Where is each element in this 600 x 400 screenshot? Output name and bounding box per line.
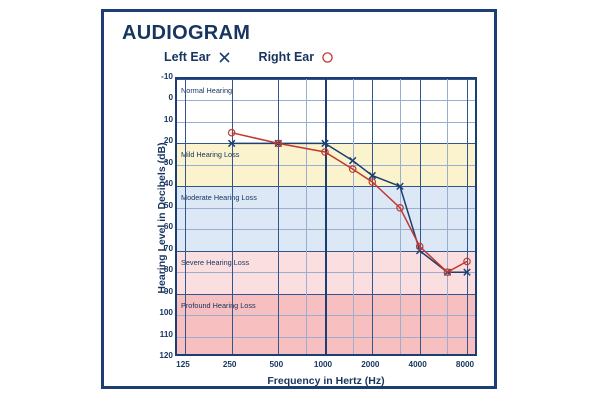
x-tick-label: 2000 xyxy=(361,360,379,369)
data-point-x-mark-icon xyxy=(369,172,375,178)
series-line-left-ear xyxy=(232,143,467,272)
x-tick-label: 4000 xyxy=(409,360,427,369)
x-tick-label: 125 xyxy=(176,360,190,369)
x-tick-label: 8000 xyxy=(456,360,474,369)
y-tick-label: 0 xyxy=(145,94,173,102)
legend-label-right-ear: Right Ear xyxy=(259,50,315,64)
data-series-layer xyxy=(177,79,477,356)
x-tick-label: 500 xyxy=(269,360,283,369)
audiogram-page: AUDIOGRAM Left Ear Right Ear xyxy=(0,0,600,400)
y-tick-label: 100 xyxy=(145,309,173,317)
y-axis-ticks: -100102030405060708090100110120 xyxy=(137,77,173,356)
y-tick-label: 110 xyxy=(145,331,173,339)
y-tick-label: 30 xyxy=(145,159,173,167)
audiogram-card: AUDIOGRAM Left Ear Right Ear xyxy=(101,9,497,389)
series-line-right-ear xyxy=(232,133,467,273)
y-tick-label: 80 xyxy=(145,266,173,274)
y-tick-label: 40 xyxy=(145,180,173,188)
data-point-x-mark-icon xyxy=(350,157,356,163)
legend-label-left-ear: Left Ear xyxy=(164,50,211,64)
page-title: AUDIOGRAM xyxy=(122,22,250,45)
y-tick-label: 10 xyxy=(145,116,173,124)
chart-legend: Left Ear Right Ear xyxy=(164,50,334,64)
y-tick-label: 60 xyxy=(145,223,173,231)
x-mark-icon xyxy=(218,51,231,64)
y-tick-label: 90 xyxy=(145,288,173,296)
x-tick-label: 1000 xyxy=(314,360,332,369)
legend-item-left-ear: Left Ear xyxy=(164,50,231,64)
x-axis-title: Frequency in Hertz (Hz) xyxy=(175,375,477,387)
x-axis-ticks: 1252505001000200040008000 xyxy=(175,360,477,374)
x-tick-label: 250 xyxy=(223,360,237,369)
y-tick-label: 120 xyxy=(145,352,173,360)
legend-item-right-ear: Right Ear xyxy=(259,50,335,64)
y-tick-label: 20 xyxy=(145,137,173,145)
y-tick-label: 70 xyxy=(145,245,173,253)
plot-area: Normal HearingMild Hearing LossModerate … xyxy=(175,77,477,356)
y-tick-label: 50 xyxy=(145,202,173,210)
y-tick-label: -10 xyxy=(145,73,173,81)
circle-mark-icon xyxy=(321,51,334,64)
